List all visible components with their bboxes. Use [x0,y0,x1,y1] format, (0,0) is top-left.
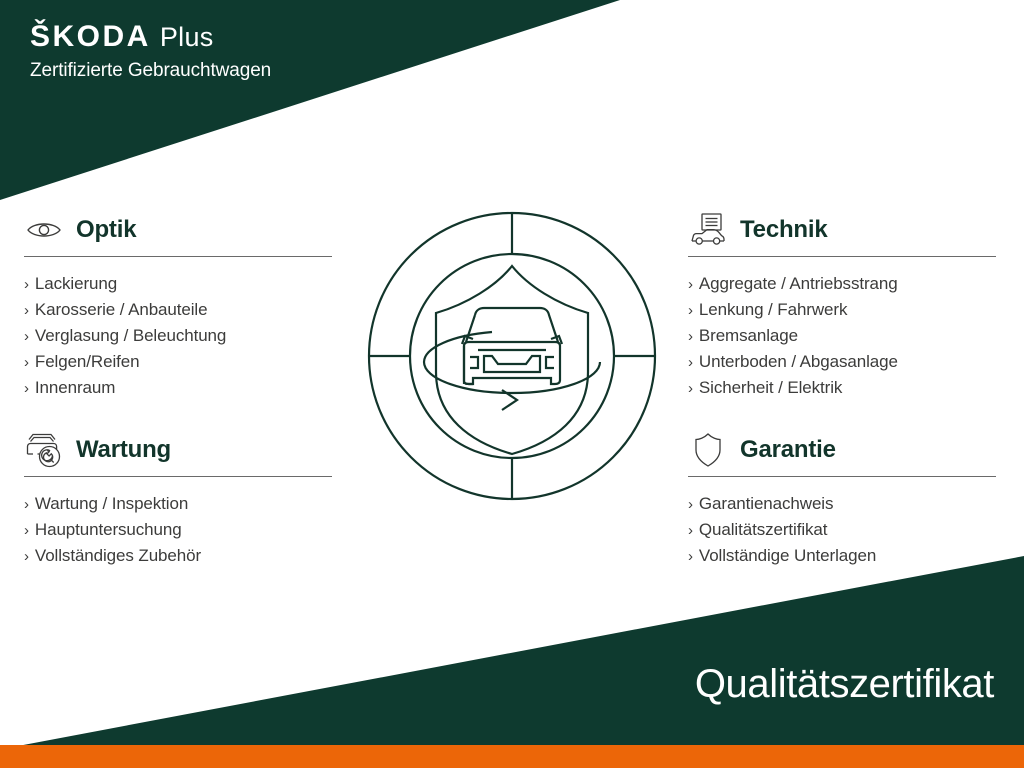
chevron-right-icon: › [688,354,693,371]
list-item: ›Sicherheit / Elektrik [688,375,1000,401]
list-item: ›Vollständiges Zubehör [24,543,336,569]
shield-icon [688,430,728,470]
list-item-label: Hauptuntersuchung [35,520,182,539]
brand-name: ŠKODA [30,22,151,52]
list-item: ›Felgen/Reifen [24,349,336,375]
section-garantie-title: Garantie [740,436,836,464]
section-wartung-divider [24,476,332,477]
chevron-right-icon: › [24,522,29,539]
list-item-label: Vollständiges Zubehör [35,546,201,565]
section-optik-divider [24,256,332,257]
list-item: ›Bremsanlage [688,323,1000,349]
emblem-ring-gaps [369,213,655,499]
emblem-inner-ring [410,254,614,458]
chevron-right-icon: › [24,276,29,293]
section-technik-list: ›Aggregate / Antriebsstrang ›Lenkung / F… [688,271,1000,401]
brand-logo: ŠKODA Plus Zertifizierte Gebrauchtwagen [30,22,271,80]
section-technik-title: Technik [740,216,828,244]
list-item: ›Karosserie / Anbauteile [24,297,336,323]
section-wartung: Wartung ›Wartung / Inspektion ›Hauptunte… [24,428,336,569]
certificate-page: ŠKODA Plus Zertifizierte Gebrauchtwagen … [0,0,1024,768]
list-item-label: Qualitätszertifikat [699,520,827,539]
eye-icon [24,210,64,250]
list-item: ›Garantienachweis [688,491,1000,517]
list-item-label: Lenkung / Fahrwerk [699,300,847,319]
section-garantie: Garantie ›Garantienachweis ›Qualitätszer… [688,428,1000,569]
chevron-right-icon: › [24,380,29,397]
chevron-right-icon: › [688,302,693,319]
chevron-right-icon: › [24,496,29,513]
chevron-right-icon: › [688,328,693,345]
brand-suffix: Plus [160,24,214,51]
chevron-right-icon: › [688,276,693,293]
section-technik-header: Technik [688,208,1000,252]
section-garantie-list: ›Garantienachweis ›Qualitätszertifikat ›… [688,491,1000,569]
section-optik-list: ›Lackierung ›Karosserie / Anbauteile ›Ve… [24,271,336,401]
chevron-right-icon: › [688,548,693,565]
section-garantie-header: Garantie [688,428,1000,472]
list-item-label: Innenraum [35,378,115,397]
list-item-label: Verglasung / Beleuchtung [35,326,226,345]
section-technik: Technik ›Aggregate / Antriebsstrang ›Len… [688,208,1000,401]
list-item-label: Lackierung [35,274,117,293]
certification-emblem [352,196,672,516]
brand-subtitle: Zertifizierte Gebrauchtwagen [30,61,271,80]
footer-green-diagonal [0,540,1024,746]
section-wartung-title: Wartung [76,436,171,464]
list-item-label: Wartung / Inspektion [35,494,188,513]
section-optik-header: Optik [24,208,336,252]
list-item-label: Karosserie / Anbauteile [35,300,208,319]
list-item: ›Unterboden / Abgasanlage [688,349,1000,375]
emblem-outer-ring [369,213,655,499]
list-item: ›Lackierung [24,271,336,297]
section-garantie-divider [688,476,996,477]
list-item: ›Verglasung / Beleuchtung [24,323,336,349]
list-item-label: Bremsanlage [699,326,798,345]
car-wrench-icon [24,430,64,470]
emblem-shield-icon [436,266,588,454]
chevron-right-icon: › [24,354,29,371]
brand-logo-row: ŠKODA Plus [30,22,271,52]
list-item: ›Hauptuntersuchung [24,517,336,543]
list-item: ›Qualitätszertifikat [688,517,1000,543]
chevron-right-icon: › [688,380,693,397]
section-wartung-header: Wartung [24,428,336,472]
list-item: ›Lenkung / Fahrwerk [688,297,1000,323]
list-item-label: Vollständige Unterlagen [699,546,876,565]
section-optik-title: Optik [76,216,136,244]
list-item-label: Unterboden / Abgasanlage [699,352,898,371]
list-item-label: Aggregate / Antriebsstrang [699,274,898,293]
section-wartung-list: ›Wartung / Inspektion ›Hauptuntersuchung… [24,491,336,569]
list-item-label: Felgen/Reifen [35,352,140,371]
list-item-label: Garantienachweis [699,494,833,513]
list-item-label: Sicherheit / Elektrik [699,378,842,397]
section-optik: Optik ›Lackierung ›Karosserie / Anbautei… [24,208,336,401]
list-item: ›Wartung / Inspektion [24,491,336,517]
list-item: ›Innenraum [24,375,336,401]
chevron-right-icon: › [24,328,29,345]
footer-title: Qualitätszertifikat [695,662,994,707]
chevron-right-icon: › [24,302,29,319]
chevron-right-icon: › [24,548,29,565]
car-document-icon [688,210,728,250]
chevron-right-icon: › [688,496,693,513]
list-item: ›Vollständige Unterlagen [688,543,1000,569]
bottom-orange-bar [0,745,1024,768]
chevron-right-icon: › [688,522,693,539]
emblem-car-front-icon [462,308,562,384]
section-technik-divider [688,256,996,257]
list-item: ›Aggregate / Antriebsstrang [688,271,1000,297]
